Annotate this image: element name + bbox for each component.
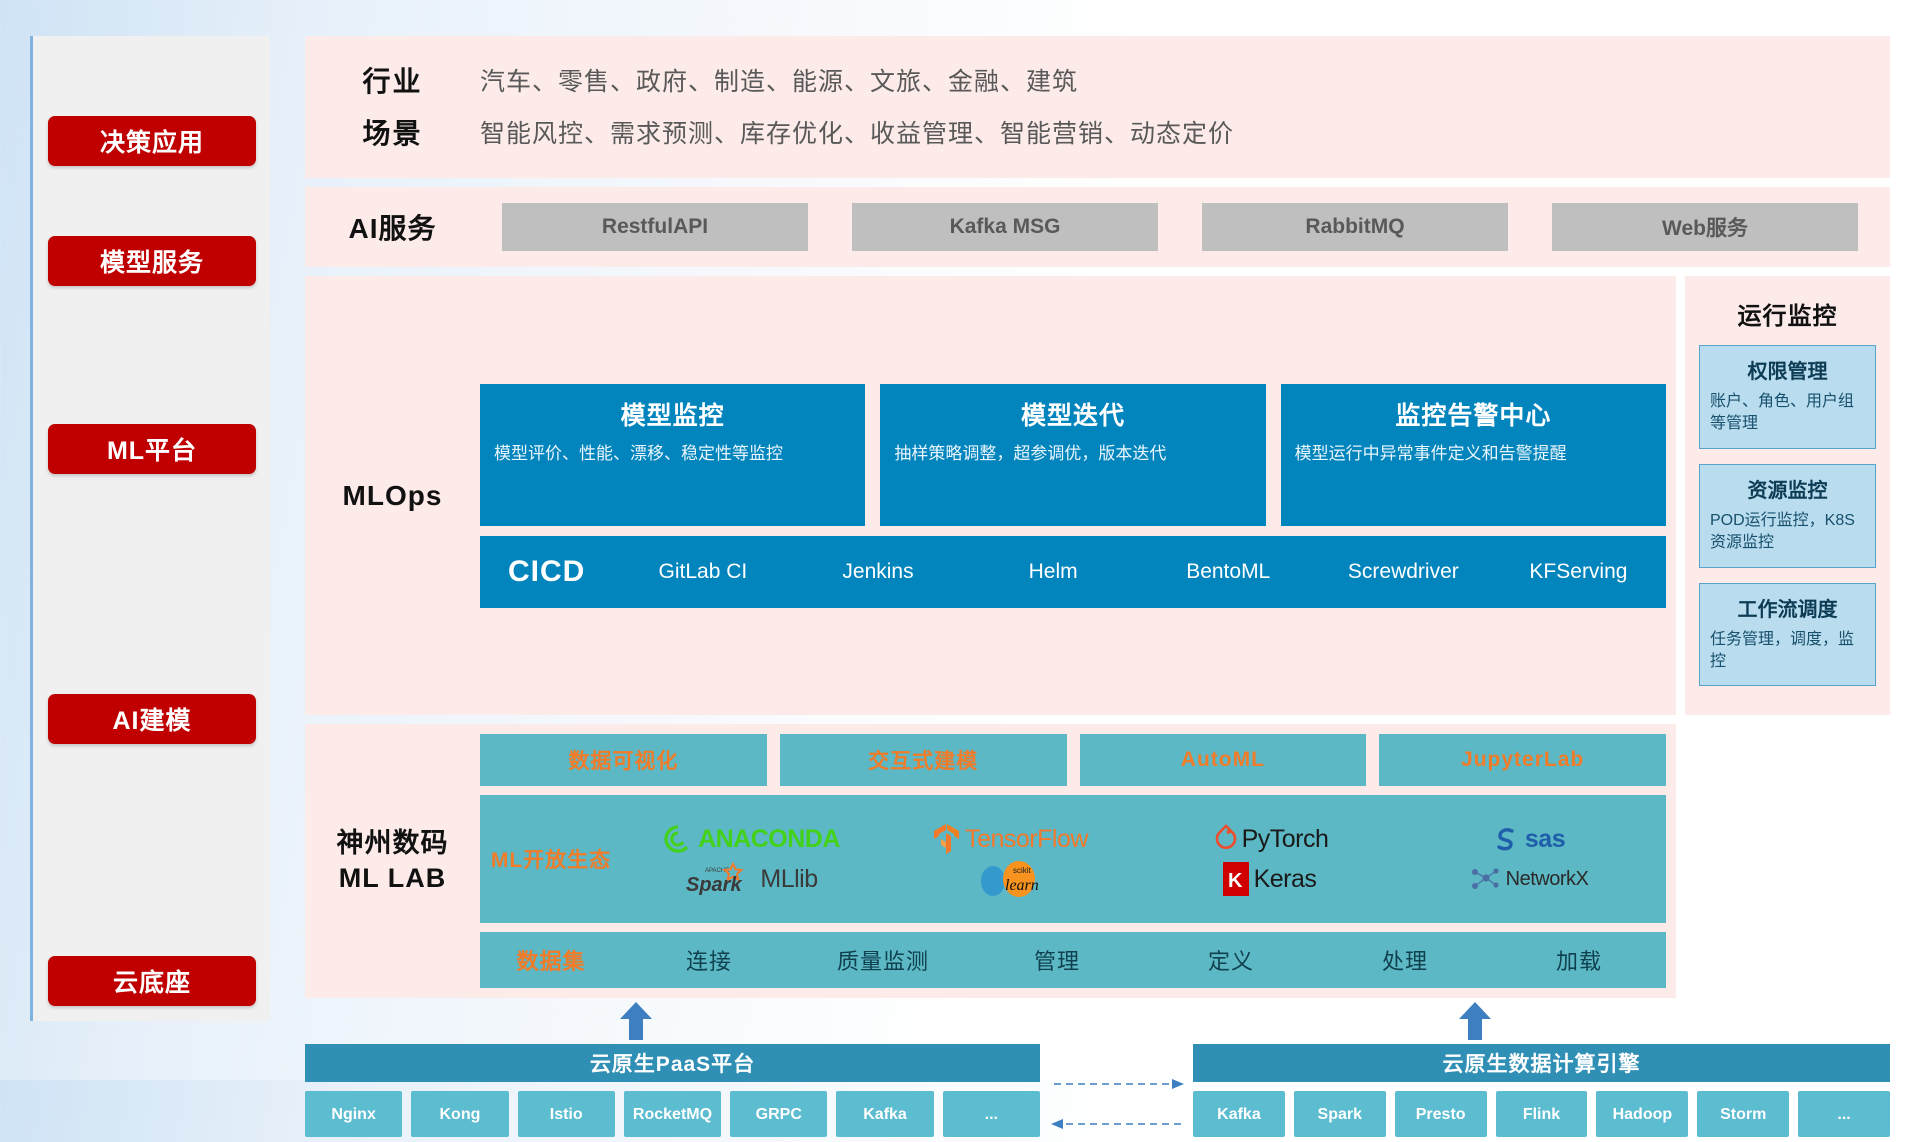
logo-text: PyTorch <box>1242 825 1329 854</box>
industry-value: 汽车、零售、政府、制造、能源、文旅、金融、建筑 <box>480 62 1078 98</box>
paas-chip-rocketmq[interactable]: RocketMQ <box>624 1091 721 1137</box>
dataset-item-process[interactable]: 处理 <box>1318 944 1492 976</box>
scenario-row: 场景 智能风控、需求预测、库存优化、收益管理、智能营销、动态定价 <box>305 106 1890 158</box>
rail-card-permission[interactable]: 权限管理 账户、角色、用户组等管理 <box>1699 345 1876 449</box>
cicd-item-bentoml[interactable]: BentoML <box>1141 559 1316 585</box>
rail-card-resource[interactable]: 资源监控 POD运行监控，K8S资源监控 <box>1699 464 1876 568</box>
spark-mllib-logo: APACHE Spark MLlib <box>685 862 817 896</box>
paas-platform-group: 云原生PaaS平台 Nginx Kong Istio RocketMQ GRPC… <box>305 1044 1040 1137</box>
spark-mark-icon: APACHE Spark <box>685 862 755 896</box>
logo-text: MLlib <box>760 865 817 894</box>
mlops-label: MLOps <box>305 480 480 512</box>
ai-service-item-restfulapi[interactable]: RestfulAPI <box>502 203 808 251</box>
ecosystem-label: ML开放生态 <box>480 844 622 874</box>
cicd-title: CICD <box>480 555 615 589</box>
networkx-mark-icon <box>1469 864 1501 894</box>
ai-service-list: RestfulAPI Kafka MSG RabbitMQ Web服务 <box>480 203 1890 251</box>
ai-service-band: AI服务 RestfulAPI Kafka MSG RabbitMQ Web服务 <box>305 187 1890 267</box>
mlops-card-alert-center[interactable]: 监控告警中心 模型运行中异常事件定义和告警提醒 <box>1281 384 1666 526</box>
paas-chip-nginx[interactable]: Nginx <box>305 1091 402 1137</box>
cloud-base-section: 云原生PaaS平台 Nginx Kong Istio RocketMQ GRPC… <box>305 1002 1890 1142</box>
rail-card-title: 资源监控 <box>1710 474 1865 503</box>
rail-spacer <box>1685 724 1890 998</box>
logo-text: sas <box>1525 825 1565 854</box>
ai-service-label: AI服务 <box>305 207 480 247</box>
dataset-item-list: 连接 质量监测 管理 定义 处理 加载 <box>622 944 1666 976</box>
layer-sidebar: 决策应用 模型服务 ML平台 AI建模 云底座 <box>30 36 270 1021</box>
networkx-logo: NetworkX <box>1469 864 1589 894</box>
anaconda-logo: ANACONDA <box>663 824 840 854</box>
cicd-bar: CICD GitLab CI Jenkins Helm BentoML Scre… <box>480 536 1666 608</box>
sas-mark-icon <box>1492 825 1520 853</box>
logo-text: Keras <box>1254 865 1317 894</box>
keras-logo: K Keras <box>1223 862 1317 896</box>
ml-open-ecosystem: ML开放生态 ANACONDA <box>480 795 1666 923</box>
anaconda-mark-icon <box>663 824 693 854</box>
mlops-band: MLOps 模型监控 模型评价、性能、漂移、稳定性等监控 模型迭代 抽样策略调整… <box>305 276 1676 715</box>
logo-text: NetworkX <box>1506 868 1589 891</box>
bidirectional-dashed-arrows-icon <box>1050 1074 1185 1136</box>
dataset-title: 数据集 <box>480 944 622 976</box>
dataset-item-define[interactable]: 定义 <box>1144 944 1318 976</box>
dataset-item-quality[interactable]: 质量监测 <box>796 944 970 976</box>
sas-logo: sas <box>1492 825 1565 854</box>
lab-tool-interactive-modeling[interactable]: 交互式建模 <box>780 734 1067 786</box>
svg-text:K: K <box>1228 870 1243 892</box>
ml-lab-label-line2: ML LAB <box>305 861 480 896</box>
keras-mark-icon: K <box>1223 862 1249 896</box>
lab-tool-jupyterlab[interactable]: JupyterLab <box>1379 734 1666 786</box>
svg-text:Spark: Spark <box>686 874 742 896</box>
engine-chip-hadoop[interactable]: Hadoop <box>1596 1091 1688 1137</box>
layer-label: 云底座 <box>113 963 191 999</box>
layer-label: 决策应用 <box>100 123 204 159</box>
card-desc: 抽样策略调整，超参调优，版本迭代 <box>894 442 1251 467</box>
paas-chip-more[interactable]: ... <box>943 1091 1040 1137</box>
card-title: 模型迭代 <box>894 396 1251 432</box>
card-desc: 模型运行中异常事件定义和告警提醒 <box>1295 442 1652 467</box>
paas-chip-kong[interactable]: Kong <box>411 1091 508 1137</box>
cicd-item-helm[interactable]: Helm <box>966 559 1141 585</box>
mlops-card-model-monitoring[interactable]: 模型监控 模型评价、性能、漂移、稳定性等监控 <box>480 384 865 526</box>
rail-card-title: 权限管理 <box>1710 355 1865 384</box>
engine-chip-spark[interactable]: Spark <box>1294 1091 1386 1137</box>
logo-text: TensorFlow <box>965 825 1088 854</box>
data-engine-chip-list: Kafka Spark Presto Flink Hadoop Storm ..… <box>1193 1091 1890 1137</box>
mlops-card-model-iteration[interactable]: 模型迭代 抽样策略调整，超参调优，版本迭代 <box>880 384 1265 526</box>
rail-title: 运行监控 <box>1699 296 1876 331</box>
sidebar-item-decision-app[interactable]: 决策应用 <box>48 116 256 166</box>
sidebar-item-ml-platform[interactable]: ML平台 <box>48 424 256 474</box>
layer-label: ML平台 <box>107 431 197 467</box>
svg-text:learn: learn <box>1005 877 1039 894</box>
ml-lab-label: 神州数码 ML LAB <box>305 826 480 896</box>
ai-service-item-web[interactable]: Web服务 <box>1552 203 1858 251</box>
architecture-diagram: 决策应用 模型服务 ML平台 AI建模 云底座 行业 汽车、零售、政府、制造、能… <box>0 0 1920 1080</box>
data-engine-bar[interactable]: 云原生数据计算引擎 <box>1193 1044 1890 1082</box>
scikit-learn-logo: scikit learn <box>975 859 1047 899</box>
mlops-row: MLOps 模型监控 模型评价、性能、漂移、稳定性等监控 模型迭代 抽样策略调整… <box>305 276 1890 715</box>
svg-text:scikit: scikit <box>1013 866 1032 875</box>
pytorch-logo: PyTorch <box>1211 824 1329 854</box>
paas-chip-list: Nginx Kong Istio RocketMQ GRPC Kafka ... <box>305 1091 1040 1137</box>
engine-chip-flink[interactable]: Flink <box>1496 1091 1588 1137</box>
mlops-content: 模型监控 模型评价、性能、漂移、稳定性等监控 模型迭代 抽样策略调整，超参调优，… <box>480 384 1676 608</box>
scenario-key: 场景 <box>305 112 480 152</box>
sidebar-item-ai-modeling[interactable]: AI建模 <box>48 694 256 744</box>
dataset-item-connect[interactable]: 连接 <box>622 944 796 976</box>
rail-card-title: 工作流调度 <box>1710 593 1865 622</box>
dataset-item-manage[interactable]: 管理 <box>970 944 1144 976</box>
engine-chip-kafka[interactable]: Kafka <box>1193 1091 1285 1137</box>
dataset-item-load[interactable]: 加载 <box>1492 944 1666 976</box>
engine-chip-presto[interactable]: Presto <box>1395 1091 1487 1137</box>
arrow-up-paas-icon <box>618 1002 654 1040</box>
runtime-monitoring-rail: 运行监控 权限管理 账户、角色、用户组等管理 资源监控 POD运行监控，K8S资… <box>1685 276 1890 715</box>
tensorflow-mark-icon <box>933 823 960 855</box>
card-title: 模型监控 <box>494 396 851 432</box>
tensorflow-logo: TensorFlow <box>933 823 1088 855</box>
ml-lab-content: 数据可视化 交互式建模 AutoML JupyterLab ML开放生态 <box>480 734 1676 988</box>
ecosystem-logo-grid: ANACONDA TensorFlow <box>622 819 1666 899</box>
dataset-bar: 数据集 连接 质量监测 管理 定义 处理 加载 <box>480 932 1666 988</box>
arrow-up-data-engine-icon <box>1457 1002 1493 1040</box>
main-column: 行业 汽车、零售、政府、制造、能源、文旅、金融、建筑 场景 智能风控、需求预测、… <box>305 36 1890 1142</box>
ml-lab-row: 神州数码 ML LAB 数据可视化 交互式建模 AutoML JupyterLa… <box>305 724 1890 998</box>
logo-text: ANACONDA <box>698 825 840 854</box>
paas-chip-grpc[interactable]: GRPC <box>730 1091 827 1137</box>
rail-card-workflow[interactable]: 工作流调度 任务管理，调度，监控 <box>1699 583 1876 687</box>
cicd-item-list: GitLab CI Jenkins Helm BentoML Screwdriv… <box>615 559 1666 585</box>
layer-label: AI建模 <box>112 701 191 737</box>
card-title: 监控告警中心 <box>1295 396 1652 432</box>
rail-card-desc: 任务管理，调度，监控 <box>1710 629 1865 674</box>
ml-lab-band: 神州数码 ML LAB 数据可视化 交互式建模 AutoML JupyterLa… <box>305 724 1676 998</box>
lab-tool-data-visualization[interactable]: 数据可视化 <box>480 734 767 786</box>
ml-lab-tool-list: 数据可视化 交互式建模 AutoML JupyterLab <box>480 734 1666 786</box>
engine-chip-storm[interactable]: Storm <box>1697 1091 1789 1137</box>
lab-tool-automl[interactable]: AutoML <box>1080 734 1367 786</box>
mlops-card-list: 模型监控 模型评价、性能、漂移、稳定性等监控 模型迭代 抽样策略调整，超参调优，… <box>480 384 1666 526</box>
cicd-item-jenkins[interactable]: Jenkins <box>790 559 965 585</box>
sidebar-item-model-service[interactable]: 模型服务 <box>48 236 256 286</box>
paas-chip-istio[interactable]: Istio <box>518 1091 615 1137</box>
rail-card-desc: POD运行监控，K8S资源监控 <box>1710 510 1865 555</box>
layer-label: 模型服务 <box>100 243 204 279</box>
engine-chip-more[interactable]: ... <box>1798 1091 1890 1137</box>
rail-card-desc: 账户、角色、用户组等管理 <box>1710 391 1865 436</box>
ai-service-item-kafka-msg[interactable]: Kafka MSG <box>852 203 1158 251</box>
industry-scenario-band: 行业 汽车、零售、政府、制造、能源、文旅、金融、建筑 场景 智能风控、需求预测、… <box>305 36 1890 178</box>
cicd-item-kfserving[interactable]: KFServing <box>1491 559 1666 585</box>
paas-platform-bar[interactable]: 云原生PaaS平台 <box>305 1044 1040 1082</box>
industry-row: 行业 汽车、零售、政府、制造、能源、文旅、金融、建筑 <box>305 54 1890 106</box>
cicd-item-gitlab-ci[interactable]: GitLab CI <box>615 559 790 585</box>
ml-lab-label-line1: 神州数码 <box>305 826 480 861</box>
card-desc: 模型评价、性能、漂移、稳定性等监控 <box>494 442 851 467</box>
sidebar-item-cloud-base[interactable]: 云底座 <box>48 956 256 1006</box>
cicd-item-screwdriver[interactable]: Screwdriver <box>1316 559 1491 585</box>
ai-service-item-rabbitmq[interactable]: RabbitMQ <box>1202 203 1508 251</box>
industry-key: 行业 <box>305 60 480 100</box>
data-engine-group: 云原生数据计算引擎 Kafka Spark Presto Flink Hadoo… <box>1193 1044 1890 1137</box>
pytorch-mark-icon <box>1211 824 1237 854</box>
scenario-value: 智能风控、需求预测、库存优化、收益管理、智能营销、动态定价 <box>480 114 1234 150</box>
scikit-learn-mark-icon: scikit learn <box>975 859 1047 899</box>
paas-chip-kafka[interactable]: Kafka <box>836 1091 933 1137</box>
